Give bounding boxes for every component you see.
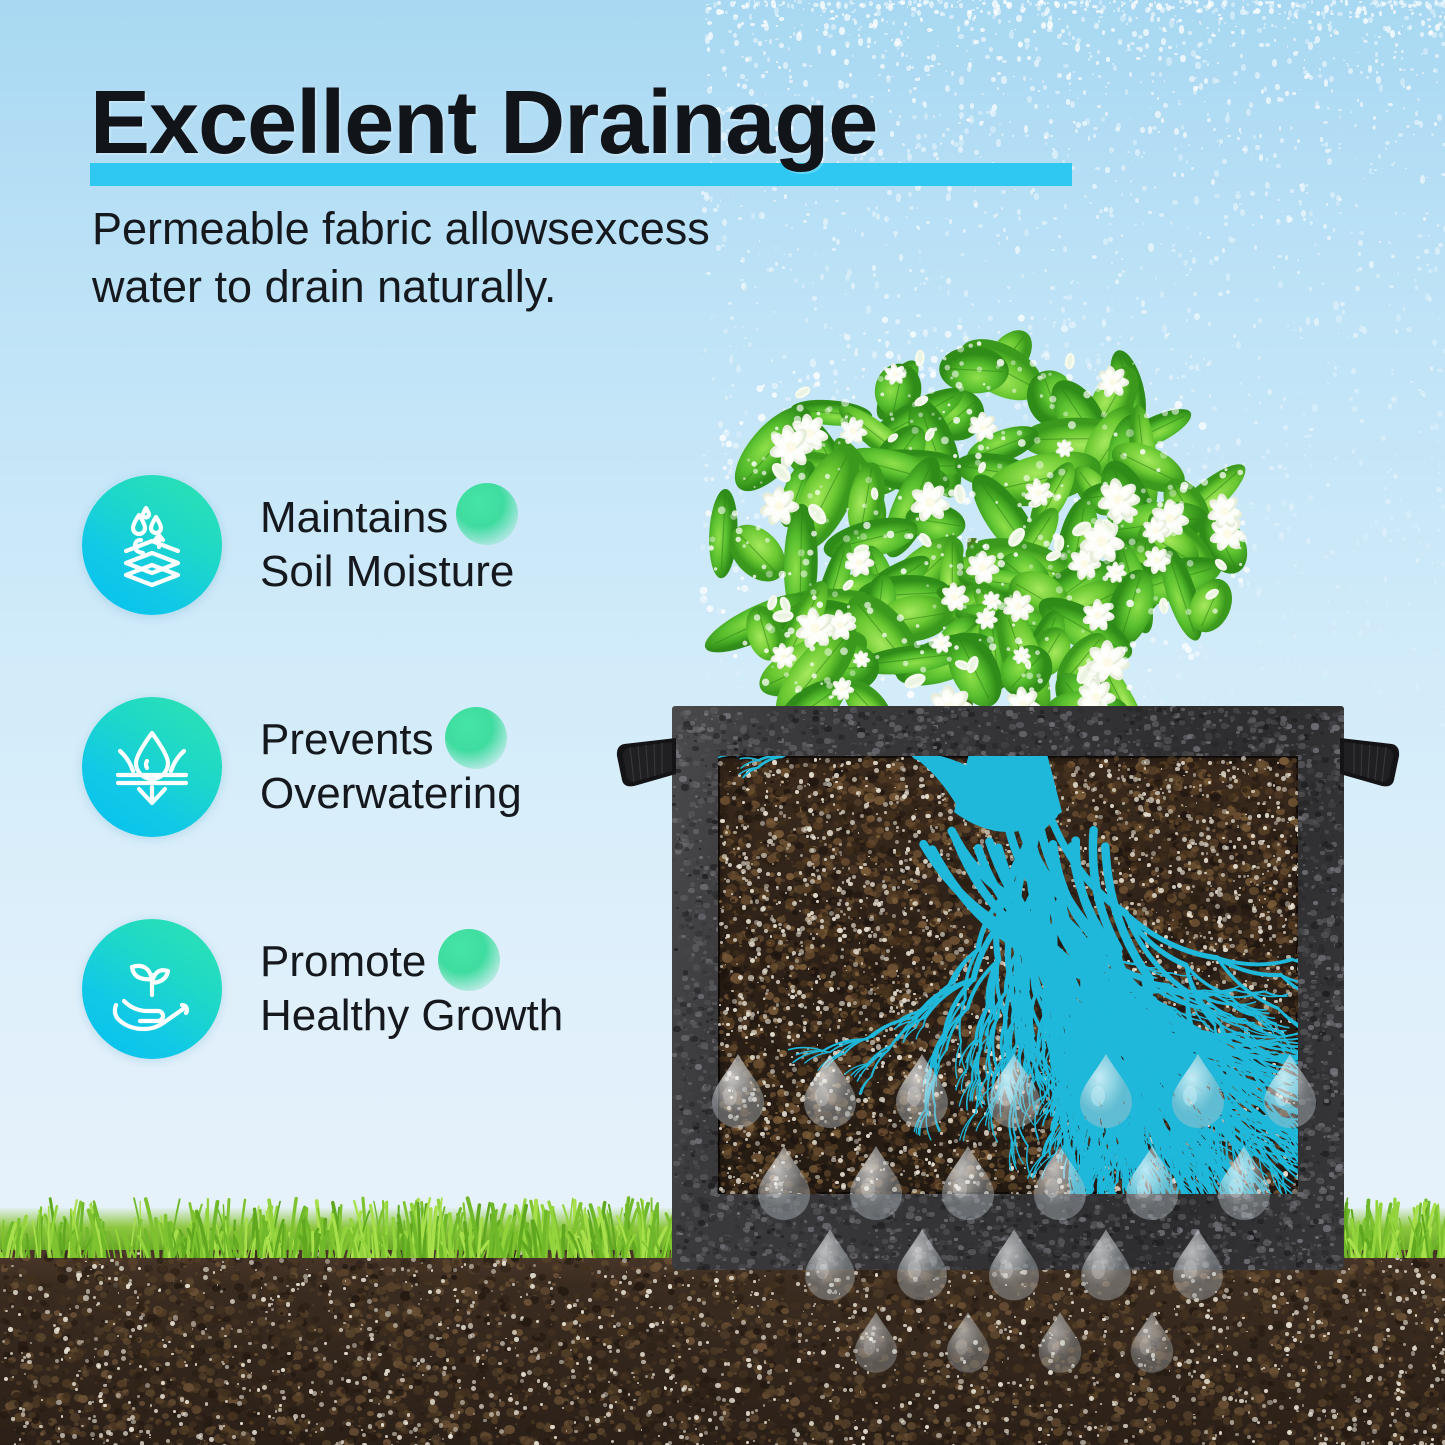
flowering-jasmine-plant: [672, 178, 1262, 718]
feature-label: Prevents Overwatering: [260, 713, 522, 820]
feature-text: Promote Healthy Growth: [260, 935, 563, 1042]
feature-text: Maintains Soil Moisture: [260, 491, 514, 598]
feature-item-maintains-soil-moisture: Maintains Soil Moisture: [82, 470, 602, 620]
infographic-canvas: Excellent Drainage Permeable fabric allo…: [0, 0, 1445, 1445]
page-title: Excellent Drainage: [90, 76, 877, 171]
feature-list: Maintains Soil Moisture Prevents Overw: [82, 470, 602, 1136]
potting-soil: [718, 756, 1298, 1194]
right-handle: [1338, 734, 1402, 806]
water-drops-on-layers-icon: [82, 475, 222, 615]
soil-cross-section: [0, 1250, 1445, 1445]
cyan-root-system: [718, 756, 1298, 1194]
feature-label: Maintains Soil Moisture: [260, 491, 514, 598]
droplet-through-membrane-icon: [82, 697, 222, 837]
feature-item-promote-healthy-growth: Promote Healthy Growth: [82, 914, 602, 1064]
fabric-grow-bag: [672, 706, 1344, 1270]
feature-item-prevents-overwatering: Prevents Overwatering: [82, 692, 602, 842]
feature-text: Prevents Overwatering: [260, 713, 522, 820]
feature-label: Promote Healthy Growth: [260, 935, 563, 1042]
left-handle: [614, 734, 678, 806]
hand-holding-sprout-icon: [82, 919, 222, 1059]
heading-block: Excellent Drainage: [90, 76, 1100, 191]
